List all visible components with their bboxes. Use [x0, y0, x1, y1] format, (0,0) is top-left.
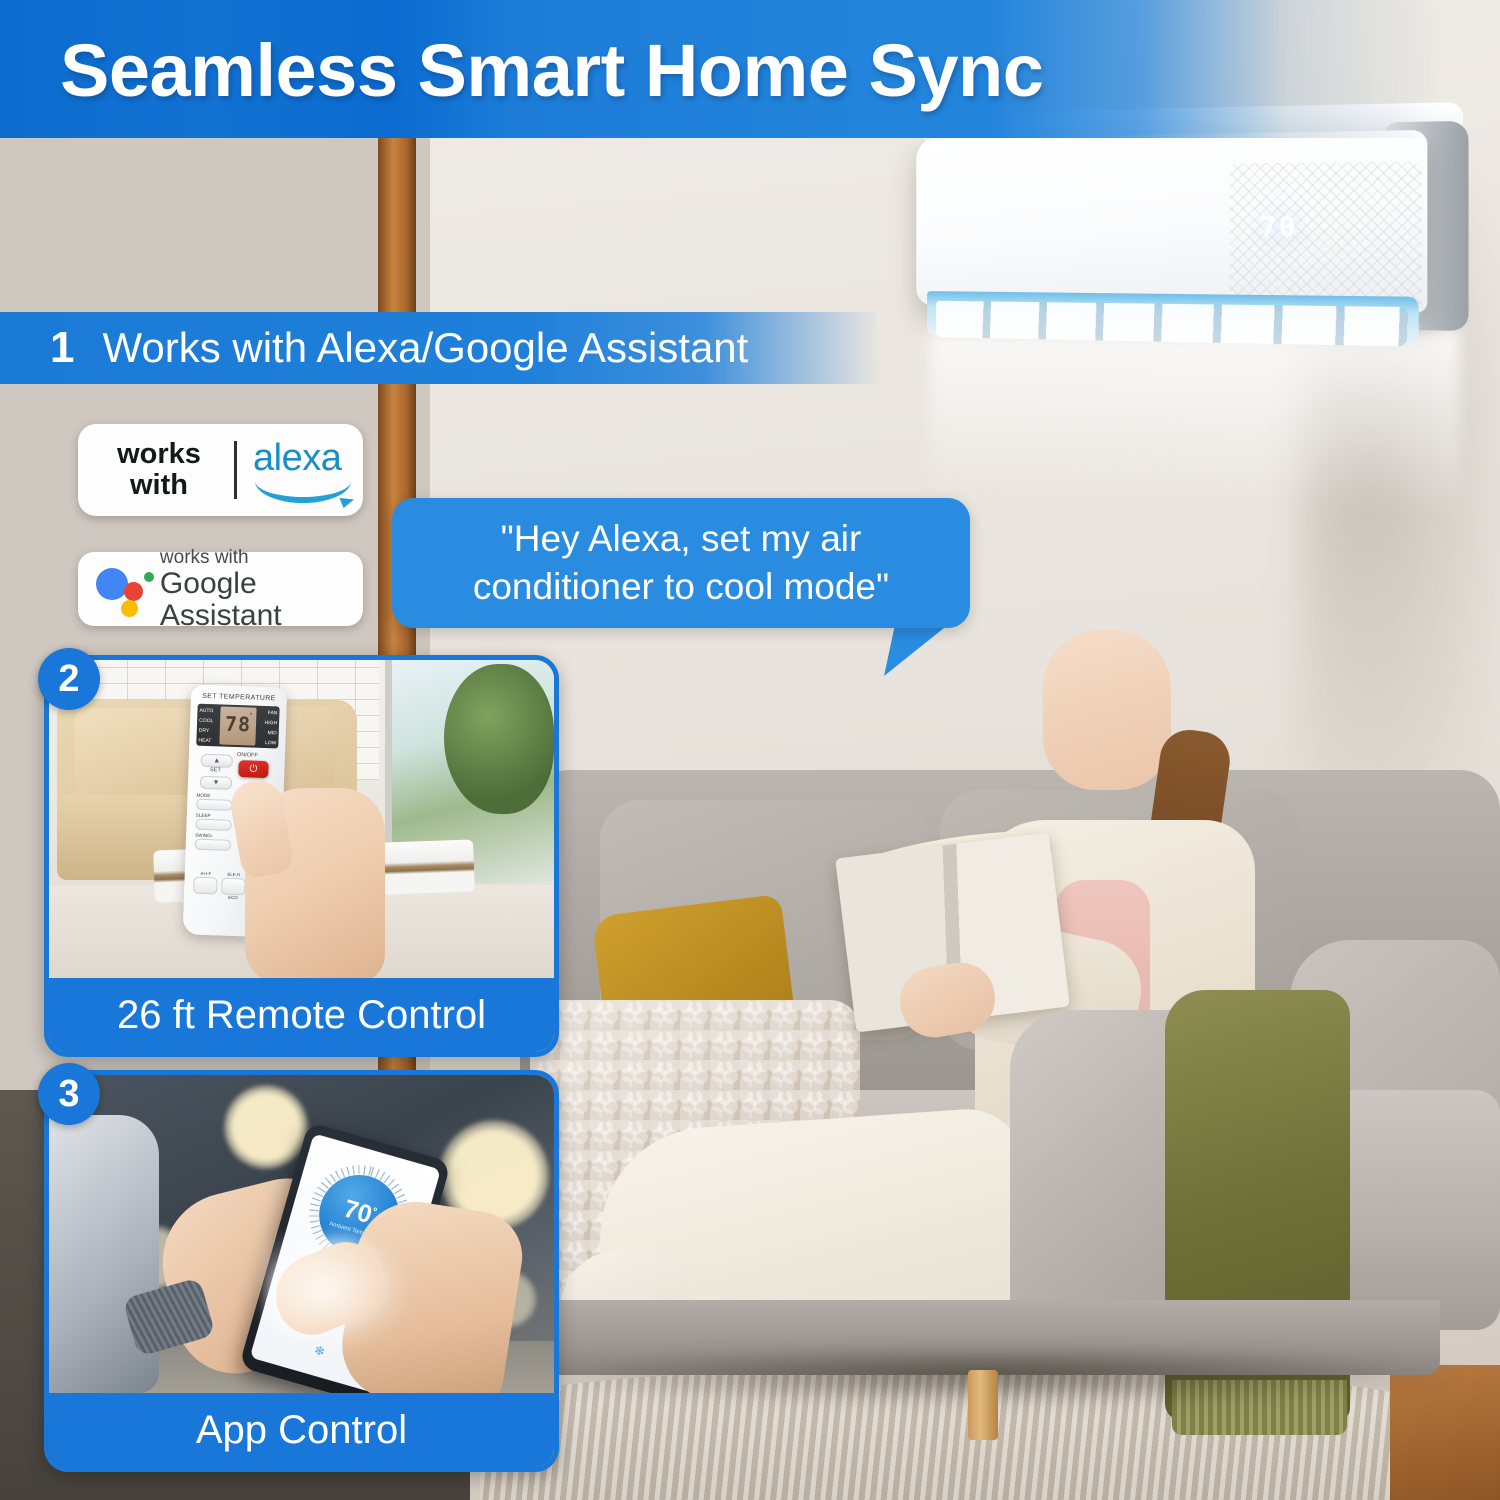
google-assistant-icon — [94, 560, 150, 618]
remote-control-caption: 26 ft Remote Control — [117, 993, 486, 1038]
alexa-works-with-text: works with — [100, 439, 218, 501]
p3-bokeh-light — [224, 1085, 308, 1169]
google-dot-blue — [96, 568, 128, 600]
alexa-divider — [234, 441, 237, 499]
step-1-label: Works with Alexa/Google Assistant — [102, 324, 748, 372]
air-conditioner-unit: 70 — [916, 102, 1470, 354]
ac-front-panel: 70 — [916, 130, 1427, 313]
remote-mode-auto: AUTO — [199, 706, 219, 717]
remote-fan-low: LOW — [256, 738, 276, 749]
remote-set-label: SET — [200, 767, 230, 774]
remote-fan-high: HIGH — [257, 718, 277, 729]
remote-lcd-degree-icon: ° — [249, 712, 252, 719]
google-dot-green — [144, 572, 154, 582]
speech-bubble-tail — [884, 620, 954, 676]
remote-button-cap — [195, 819, 231, 831]
remote-sleep-button[interactable]: SLEEP — [195, 813, 232, 831]
page-title: Seamless Smart Home Sync — [60, 28, 1043, 113]
ac-louvers — [936, 301, 1408, 347]
app-control-photo: 70° Ambient Temp 90°F ⏻ ❄ — [49, 1075, 554, 1393]
step-3-badge: 3 — [38, 1063, 100, 1125]
p2-tree — [444, 664, 554, 814]
remote-button-cap — [193, 877, 218, 895]
p2-sofa-cushion-left — [75, 708, 195, 803]
speech-bubble: "Hey Alexa, set my air conditioner to co… — [392, 498, 970, 628]
woman-head — [1043, 630, 1171, 790]
amazon-smile-icon — [255, 475, 351, 503]
remote-aif-button[interactable]: A+I-F — [193, 871, 218, 901]
remote-control-caption-bar: 26 ft Remote Control — [49, 978, 554, 1052]
alexa-works-line1: works — [100, 439, 218, 470]
remote-mode-heat: HEAT — [198, 736, 218, 747]
step-1-banner: 1 Works with Alexa/Google Assistant — [0, 312, 880, 384]
ac-airflow — [930, 330, 1460, 530]
alexa-logo: alexa — [253, 439, 357, 501]
works-with-google-assistant-badge: works with Google Assistant — [78, 552, 363, 626]
remote-mode-button[interactable]: MODE — [196, 793, 233, 811]
alexa-wordmark: alexa — [253, 437, 341, 480]
remote-swing-vertical-button[interactable]: SWING↕ — [195, 833, 232, 851]
remote-fan-label: FAN — [257, 708, 277, 719]
google-dot-yellow — [121, 600, 138, 617]
google-assistant-wordmark: Google Assistant — [160, 568, 363, 632]
ac-led-display: 70 — [1260, 212, 1297, 244]
remote-power-button[interactable]: ⏻ — [238, 760, 269, 778]
feature-panel-app-control[interactable]: 70° Ambient Temp 90°F ⏻ ❄ App Control — [44, 1070, 559, 1472]
google-badge-text: works with Google Assistant — [160, 547, 363, 632]
remote-button-cap — [221, 878, 246, 896]
step-1-number: 1 — [50, 323, 74, 373]
app-control-caption-bar: App Control — [49, 1393, 554, 1467]
remote-mode-dry: DRY — [199, 726, 219, 737]
remote-onoff-label: ON/OFF — [237, 752, 258, 759]
sofa-leg — [968, 1370, 998, 1440]
remote-control-photo: SET TEMPERATURE AUTO COOL DRY HEAT 78 ° … — [49, 660, 554, 978]
remote-mode-list: AUTO COOL DRY HEAT — [196, 704, 219, 747]
remote-fan-list: FAN HIGH MID LOW — [256, 706, 279, 749]
p3-touch-glow — [264, 1235, 414, 1355]
google-dot-red — [124, 582, 143, 601]
app-control-caption: App Control — [196, 1408, 407, 1453]
remote-temp-down-button[interactable]: ▼ — [200, 776, 232, 790]
works-with-alexa-badge: works with alexa — [78, 424, 363, 516]
remote-lcd-screen: 78 ° — [219, 706, 256, 745]
remote-lcd-display: AUTO COOL DRY HEAT 78 ° FAN HIGH MID LOW — [196, 704, 279, 749]
remote-button-cap — [196, 799, 232, 811]
remote-temp-up-button[interactable]: ▲ — [201, 754, 233, 768]
remote-title-label: SET TEMPERATURE — [191, 692, 287, 702]
remote-eleh-eco-button[interactable]: ELE.H ECO — [221, 872, 246, 902]
remote-mode-cool: COOL — [199, 716, 219, 727]
alexa-works-line2: with — [100, 470, 218, 501]
google-works-with-text: works with — [160, 547, 363, 568]
speech-bubble-text: "Hey Alexa, set my air conditioner to co… — [392, 515, 970, 611]
remote-button-cap — [195, 839, 231, 851]
remote-fan-mid: MID — [257, 728, 277, 739]
feature-panel-remote-control[interactable]: SET TEMPERATURE AUTO COOL DRY HEAT 78 ° … — [44, 655, 559, 1057]
product-feature-image: 70 Seamless Smart Home Sync 1 Works with… — [0, 0, 1500, 1500]
step-2-badge: 2 — [38, 648, 100, 710]
